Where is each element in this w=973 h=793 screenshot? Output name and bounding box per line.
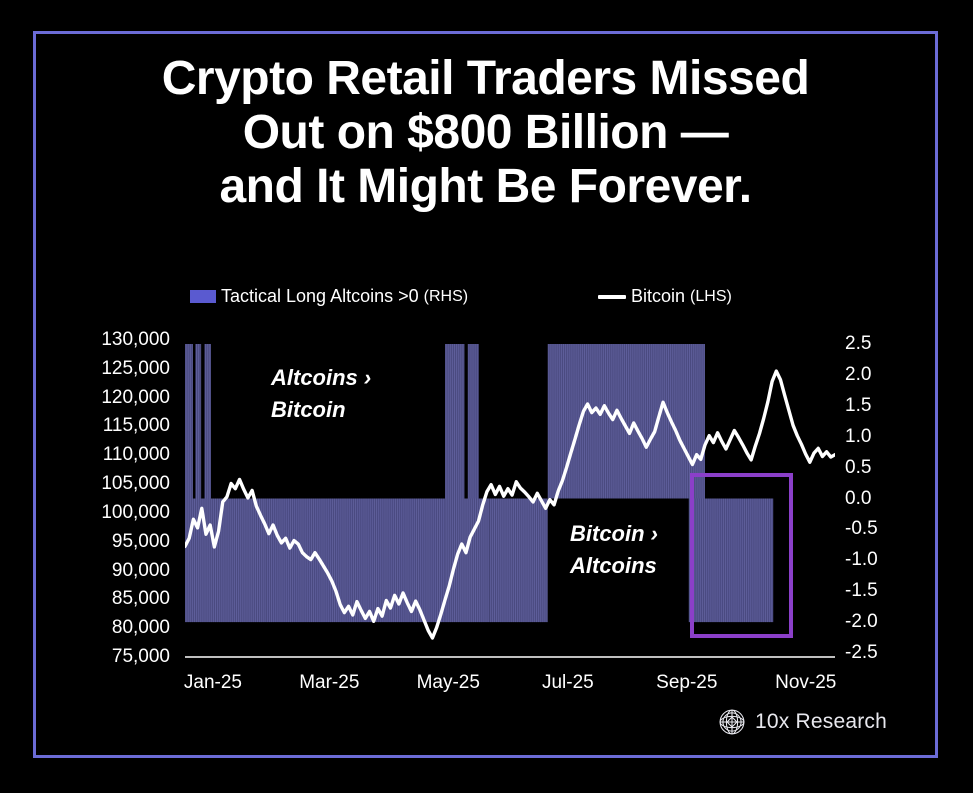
signal-bar <box>251 499 252 623</box>
signal-bar <box>666 344 667 499</box>
signal-bar <box>190 499 191 623</box>
signal-bar <box>605 344 606 499</box>
signal-bar <box>422 499 423 623</box>
annotation-1-line-2: Bitcoin <box>271 394 371 426</box>
signal-bar <box>450 499 451 623</box>
signal-bar <box>215 499 216 623</box>
signal-bar <box>279 499 280 623</box>
signal-bar <box>467 499 468 623</box>
signal-bar <box>630 344 631 499</box>
signal-bar <box>347 499 348 623</box>
annotation-bitcoin-over-altcoins: Bitcoin › Altcoins <box>570 518 658 582</box>
signal-bar <box>230 499 231 623</box>
signal-bar <box>536 499 537 623</box>
signal-bar <box>645 344 646 499</box>
signal-bar <box>307 499 308 623</box>
signal-bar <box>207 499 208 623</box>
signal-bar <box>634 344 635 499</box>
signal-bar <box>374 499 375 623</box>
signal-bar <box>378 499 379 623</box>
signal-bar <box>597 344 598 499</box>
signal-bar <box>330 499 331 623</box>
signal-bar <box>300 499 301 623</box>
signal-bar <box>540 499 541 623</box>
signal-bar <box>662 344 663 499</box>
signal-bar <box>290 499 291 623</box>
signal-bar <box>603 344 604 499</box>
signal-bar <box>288 499 289 623</box>
signal-bar <box>196 499 197 623</box>
signal-bar <box>523 499 524 623</box>
signal-bar <box>561 344 562 499</box>
signal-bar <box>477 344 478 499</box>
signal-bar <box>305 499 306 623</box>
headline-line-1: Crypto Retail Traders Missed <box>33 52 938 106</box>
signal-bar <box>469 499 470 623</box>
signal-bar <box>517 499 518 623</box>
y-right-tick: -1.5 <box>845 581 878 600</box>
signal-bar <box>275 499 276 623</box>
signal-bar <box>452 499 453 623</box>
signal-bar <box>263 499 264 623</box>
signal-bar <box>448 499 449 623</box>
signal-bar <box>515 499 516 623</box>
brand-lockup: 10x Research <box>718 708 887 736</box>
signal-bar <box>429 499 430 623</box>
legend-item-bitcoin: Bitcoin (LHS) <box>598 286 732 307</box>
signal-bar <box>511 499 512 623</box>
signal-bar <box>569 344 570 499</box>
signal-bar <box>483 499 484 623</box>
y-right-tick: -1.0 <box>845 550 878 569</box>
signal-bar <box>382 499 383 623</box>
signal-bar <box>584 344 585 499</box>
signal-bar <box>380 499 381 623</box>
signal-bar <box>626 344 627 499</box>
signal-bar <box>240 499 241 623</box>
signal-bar <box>253 499 254 623</box>
signal-bar <box>664 344 665 499</box>
signal-bar <box>486 499 487 623</box>
signal-bar <box>420 499 421 623</box>
signal-bar <box>296 499 297 623</box>
signal-bar <box>473 499 474 623</box>
signal-bar <box>500 499 501 623</box>
signal-bar <box>475 499 476 623</box>
signal-bar <box>247 499 248 623</box>
signal-bar <box>613 344 614 499</box>
signal-bar <box>507 499 508 623</box>
y-left-tick: 110,000 <box>103 445 170 464</box>
signal-bar <box>223 499 224 623</box>
signal-bar <box>188 344 189 499</box>
annotation-altcoins-over-bitcoin: Altcoins › Bitcoin <box>271 362 371 426</box>
signal-bar <box>395 499 396 623</box>
y-left-tick: 115,000 <box>103 416 170 435</box>
signal-bar <box>542 499 543 623</box>
x-axis-tick: May-25 <box>417 672 480 694</box>
signal-bar <box>267 499 268 623</box>
signal-bar <box>349 499 350 623</box>
bar-swatch-icon <box>190 290 216 303</box>
chart-legend: Tactical Long Altcoins >0 (RHS) Bitcoin … <box>185 286 840 312</box>
signal-bar <box>446 499 447 623</box>
signal-bar <box>685 344 686 499</box>
signal-bar <box>481 499 482 623</box>
signal-bar <box>439 499 440 623</box>
signal-bar <box>190 344 191 499</box>
y-right-tick: 1.5 <box>845 396 871 415</box>
signal-bar <box>502 499 503 623</box>
signal-bar <box>571 344 572 499</box>
signal-bar <box>217 499 218 623</box>
y-right-tick: 2.0 <box>845 365 871 384</box>
signal-bar <box>244 499 245 623</box>
annotation-2-line-1: Bitcoin › <box>570 518 658 550</box>
annotation-2-line-2: Altcoins <box>570 550 658 582</box>
signal-bar <box>370 499 371 623</box>
signal-bar <box>205 344 206 499</box>
signal-bar <box>494 499 495 623</box>
y-left-tick: 130,000 <box>101 330 170 349</box>
y-left-tick: 75,000 <box>112 647 170 666</box>
signal-bar <box>298 499 299 623</box>
signal-bar <box>676 344 677 499</box>
signal-bar <box>186 499 187 623</box>
signal-bar <box>460 344 461 499</box>
y-left-tick: 80,000 <box>112 618 170 637</box>
signal-bar <box>470 344 471 499</box>
signal-bar <box>294 499 295 623</box>
signal-bar <box>687 344 688 499</box>
signal-bar <box>588 344 589 499</box>
signal-bar <box>200 344 201 499</box>
signal-bar <box>653 344 654 499</box>
signal-bar <box>620 344 621 499</box>
signal-bar <box>334 499 335 623</box>
signal-bar <box>196 344 197 499</box>
signal-bar <box>456 344 457 499</box>
signal-bar <box>475 344 476 499</box>
signal-bar <box>271 499 272 623</box>
signal-bar <box>468 344 469 499</box>
signal-bar <box>366 499 367 623</box>
signal-bar <box>437 499 438 623</box>
y-left-tick: 85,000 <box>112 589 170 608</box>
signal-bar <box>376 499 377 623</box>
y-right-tick: -0.5 <box>845 519 878 538</box>
signal-bar <box>446 344 447 499</box>
y-right-tick: -2.5 <box>845 643 878 662</box>
y-left-tick: 125,000 <box>101 359 170 378</box>
signal-bar <box>292 499 293 623</box>
signal-bar <box>313 499 314 623</box>
signal-bar <box>433 499 434 623</box>
signal-bar <box>401 499 402 623</box>
signal-bar <box>567 344 568 499</box>
signal-bar <box>372 499 373 623</box>
woven-globe-icon <box>718 708 746 736</box>
signal-bar <box>431 499 432 623</box>
x-axis-tick: Nov-25 <box>775 672 836 694</box>
signal-bar <box>601 344 602 499</box>
signal-bar <box>211 499 212 623</box>
signal-bar <box>236 499 237 623</box>
signal-bar <box>284 499 285 623</box>
signal-bar <box>574 344 575 499</box>
signal-bar <box>286 499 287 623</box>
signal-bar <box>599 344 600 499</box>
y-right-tick: 1.0 <box>845 427 871 446</box>
signal-bar <box>269 499 270 623</box>
signal-bar <box>632 344 633 499</box>
y-right-tick: 0.0 <box>845 489 871 508</box>
headline-line-3: and It Might Be Forever. <box>33 160 938 214</box>
signal-bar <box>526 499 527 623</box>
signal-bar <box>639 344 640 499</box>
signal-bar <box>555 344 556 499</box>
signal-bar <box>345 499 346 623</box>
signal-bar <box>668 344 669 499</box>
signal-bar <box>674 344 675 499</box>
signal-bar <box>544 499 545 623</box>
signal-bar <box>342 499 343 623</box>
signal-bar <box>315 499 316 623</box>
y-left-tick: 95,000 <box>112 532 170 551</box>
headline-line-2: Out on $800 Billion — <box>33 106 938 160</box>
signal-bar <box>643 344 644 499</box>
signal-bar <box>532 499 533 623</box>
signal-bar <box>332 499 333 623</box>
x-axis-tick: Mar-25 <box>299 672 359 694</box>
legend-axis-altcoins: (RHS) <box>424 288 468 306</box>
signal-bar <box>647 344 648 499</box>
signal-bar <box>458 499 459 623</box>
signal-bar <box>547 499 548 623</box>
signal-bar <box>651 344 652 499</box>
y-right-tick: 2.5 <box>845 334 871 353</box>
signal-bar <box>209 344 210 499</box>
signal-bar <box>188 499 189 623</box>
signal-bar <box>559 344 560 499</box>
signal-bar <box>519 499 520 623</box>
signal-bar <box>412 499 413 623</box>
signal-bar <box>213 499 214 623</box>
signal-bar <box>454 344 455 499</box>
signal-bar <box>192 499 193 623</box>
signal-bar <box>424 499 425 623</box>
x-axis-line <box>185 656 835 658</box>
signal-bar <box>249 499 250 623</box>
signal-bar <box>513 499 514 623</box>
signal-bar <box>328 499 329 623</box>
signal-bar <box>586 344 587 499</box>
signal-bar <box>448 344 449 499</box>
signal-bar <box>488 499 489 623</box>
signal-bar <box>273 499 274 623</box>
signal-bar <box>368 499 369 623</box>
brand-name: 10x Research <box>755 710 887 734</box>
signal-bar <box>679 344 680 499</box>
signal-bar <box>226 499 227 623</box>
signal-bar <box>351 499 352 623</box>
x-axis-tick: Sep-25 <box>656 672 717 694</box>
signal-bar <box>592 344 593 499</box>
signal-bar <box>458 344 459 499</box>
y-left-tick: 90,000 <box>112 561 170 580</box>
signal-bar <box>242 499 243 623</box>
legend-axis-bitcoin: (LHS) <box>690 288 732 306</box>
y-left-tick: 120,000 <box>101 388 170 407</box>
signal-bar <box>450 344 451 499</box>
signal-bar <box>257 499 258 623</box>
signal-bar <box>548 344 549 499</box>
signal-bar <box>471 499 472 623</box>
signal-bar <box>618 344 619 499</box>
signal-bar <box>460 499 461 623</box>
signal-bar <box>553 344 554 499</box>
signal-bar <box>192 344 193 499</box>
poster-root: Crypto Retail Traders Missed Out on $800… <box>0 0 973 793</box>
signal-bar <box>534 499 535 623</box>
line-swatch-icon <box>598 295 626 299</box>
signal-bar <box>282 499 283 623</box>
signal-bar <box>490 499 491 623</box>
signal-bar <box>361 499 362 623</box>
highlight-box <box>690 473 793 638</box>
signal-bar <box>435 499 436 623</box>
signal-bar <box>681 344 682 499</box>
signal-bar <box>462 344 463 499</box>
y-right-tick: 0.5 <box>845 458 871 477</box>
signal-bar <box>186 344 187 499</box>
signal-bar <box>228 499 229 623</box>
signal-bar <box>277 499 278 623</box>
signal-bar <box>637 344 638 499</box>
signal-bar <box>576 344 577 499</box>
legend-item-altcoins: Tactical Long Altcoins >0 (RHS) <box>190 286 468 307</box>
signal-bar <box>528 499 529 623</box>
signal-bar <box>649 344 650 499</box>
signal-bar <box>521 499 522 623</box>
signal-bar <box>198 344 199 499</box>
signal-bar <box>410 499 411 623</box>
signal-bar <box>255 499 256 623</box>
signal-bar <box>538 499 539 623</box>
signal-bar <box>194 499 195 623</box>
signal-bar <box>209 499 210 623</box>
signal-bar <box>303 499 304 623</box>
signal-bar <box>496 499 497 623</box>
signal-bar <box>509 499 510 623</box>
signal-bar <box>465 499 466 623</box>
signal-bar <box>641 344 642 499</box>
signal-bar <box>238 499 239 623</box>
signal-bar <box>590 344 591 499</box>
signal-bar <box>207 344 208 499</box>
x-axis-tick: Jul-25 <box>542 672 594 694</box>
signal-bar <box>505 499 506 623</box>
signal-bar <box>426 499 427 623</box>
signal-bar <box>326 499 327 623</box>
signal-bar <box>473 344 474 499</box>
signal-bar <box>324 499 325 623</box>
signal-bar <box>462 499 463 623</box>
signal-bar <box>492 499 493 623</box>
legend-label-bitcoin: Bitcoin <box>631 286 685 307</box>
signal-bar <box>234 499 235 623</box>
signal-bar <box>616 344 617 499</box>
annotation-1-line-1: Altcoins › <box>271 362 371 394</box>
signal-bar <box>609 344 610 499</box>
y-left-tick: 105,000 <box>101 474 170 493</box>
signal-bar <box>232 499 233 623</box>
signal-bar <box>403 499 404 623</box>
signal-bar <box>595 344 596 499</box>
page-title: Crypto Retail Traders Missed Out on $800… <box>33 52 938 213</box>
signal-bar <box>336 499 337 623</box>
y-left-tick: 100,000 <box>101 503 170 522</box>
signal-bar <box>550 344 551 499</box>
y-right-tick: -2.0 <box>845 612 878 631</box>
signal-bar <box>683 344 684 499</box>
signal-bar <box>628 344 629 499</box>
signal-bar <box>452 344 453 499</box>
signal-bar <box>498 499 499 623</box>
signal-bar <box>660 344 661 499</box>
signal-bar <box>530 499 531 623</box>
signal-bar <box>557 344 558 499</box>
signal-bar <box>363 499 364 623</box>
signal-bar <box>607 344 608 499</box>
signal-bar <box>611 344 612 499</box>
signal-bar <box>353 499 354 623</box>
signal-bar <box>441 499 442 623</box>
legend-label-altcoins: Tactical Long Altcoins >0 <box>221 286 419 307</box>
x-axis-tick: Jan-25 <box>184 672 242 694</box>
